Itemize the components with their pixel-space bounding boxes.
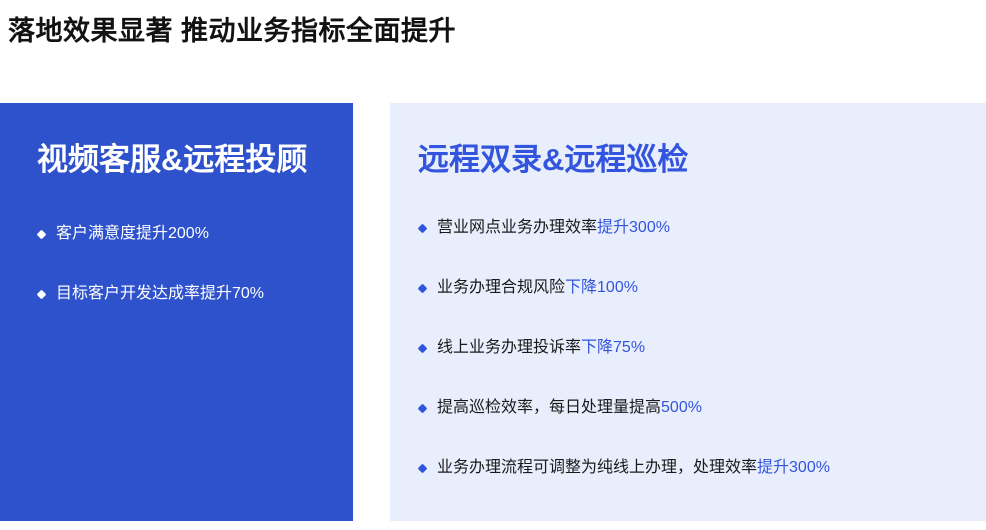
list-item: 业务办理合规风险下降100%	[418, 276, 966, 300]
slide-canvas: 落地效果显著 推动业务指标全面提升 视频客服&远程投顾 客户满意度提升200% …	[0, 0, 986, 530]
bullet-highlight: 下降100%	[565, 279, 638, 296]
card-title-remote-dual-record: 远程双录&远程巡检	[418, 140, 966, 180]
bullet-list-video-service: 客户满意度提升200% 目标客户开发达成率提升70%	[37, 222, 331, 306]
bullet-text: 线上业务办理投诉率	[437, 339, 581, 356]
card-title-video-service: 视频客服&远程投顾	[37, 140, 331, 180]
bullet-highlight: 500%	[661, 399, 702, 416]
bullet-list-remote-dual-record: 营业网点业务办理效率提升300% 业务办理合规风险下降100% 线上业务办理投诉…	[418, 216, 966, 480]
card-video-service: 视频客服&远程投顾 客户满意度提升200% 目标客户开发达成率提升70%	[0, 103, 353, 521]
list-item: 业务办理流程可调整为纯线上办理，处理效率提升300%	[418, 456, 966, 480]
diamond-bullet-icon	[418, 464, 428, 474]
bullet-text: 营业网点业务办理效率	[437, 219, 597, 236]
list-item: 提高巡检效率，每日处理量提高500%	[418, 396, 966, 420]
diamond-bullet-icon	[418, 224, 428, 234]
results-cards-row: 视频客服&远程投顾 客户满意度提升200% 目标客户开发达成率提升70% 远程双…	[0, 103, 986, 521]
bullet-text: 提高巡检效率，每日处理量提高	[437, 399, 661, 416]
page-title: 落地效果显著 推动业务指标全面提升	[8, 14, 456, 48]
diamond-bullet-icon	[37, 230, 47, 240]
card-remote-dual-record: 远程双录&远程巡检 营业网点业务办理效率提升300% 业务办理合规风险下降100…	[390, 103, 986, 521]
bullet-text: 业务办理流程可调整为纯线上办理，处理效率	[437, 459, 757, 476]
list-item: 营业网点业务办理效率提升300%	[418, 216, 966, 240]
list-item: 客户满意度提升200%	[37, 222, 331, 246]
list-item: 线上业务办理投诉率下降75%	[418, 336, 966, 360]
bullet-text: 目标客户开发达成率提升70%	[56, 285, 264, 302]
bullet-highlight: 下降75%	[581, 339, 645, 356]
bullet-highlight: 提升300%	[757, 459, 830, 476]
bullet-text: 客户满意度提升200%	[56, 225, 209, 242]
diamond-bullet-icon	[418, 404, 428, 414]
list-item: 目标客户开发达成率提升70%	[37, 282, 331, 306]
bullet-text: 业务办理合规风险	[437, 279, 565, 296]
diamond-bullet-icon	[418, 344, 428, 354]
bullet-highlight: 提升300%	[597, 219, 670, 236]
diamond-bullet-icon	[418, 284, 428, 294]
diamond-bullet-icon	[37, 290, 47, 300]
